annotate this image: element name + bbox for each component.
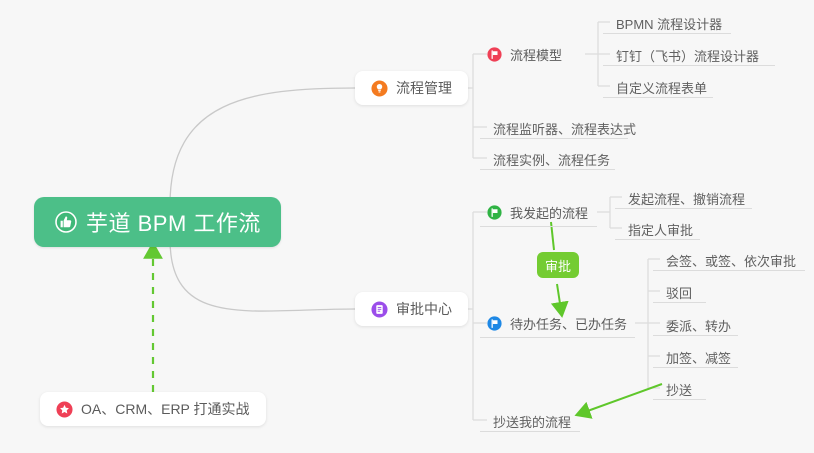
underline (480, 431, 580, 432)
node-label: 待办任务、已办任务 (510, 314, 627, 333)
node-dingtalk-feishu-designer[interactable]: 钉钉（飞书）流程设计器 (610, 40, 767, 68)
root-node-label: 芋道 BPM 工作流 (86, 206, 261, 238)
arrow-cc-to-ccme (582, 384, 662, 413)
note-node-oa-crm-erp[interactable]: OA、CRM、ERP 打通实战 (40, 392, 266, 426)
node-delegate-transfer[interactable]: 委派、转办 (660, 310, 739, 338)
thumbs-up-icon (54, 210, 78, 234)
clipboard-icon (371, 301, 388, 318)
underline (480, 337, 635, 338)
root-node[interactable]: 芋道 BPM 工作流 (34, 197, 281, 247)
underline (603, 33, 731, 34)
branch-node-label: 审批中心 (396, 299, 452, 319)
link-todo-trunk (635, 259, 660, 388)
link-root-to-approval-center (170, 239, 355, 311)
node-countersign[interactable]: 会签、或签、依次审批 (660, 245, 804, 273)
lightbulb-pin-icon (371, 80, 388, 97)
underline (653, 270, 805, 271)
node-reject[interactable]: 驳回 (660, 277, 700, 305)
node-start-cancel-process[interactable]: 发起流程、撤销流程 (622, 183, 753, 211)
underline (653, 367, 738, 368)
underline (603, 97, 713, 98)
node-designated-approval[interactable]: 指定人审批 (622, 214, 701, 242)
link-pm-trunk (460, 54, 487, 158)
underline (480, 138, 628, 139)
underline (653, 335, 738, 336)
flag-icon (487, 205, 502, 220)
node-custom-process-form[interactable]: 自定义流程表单 (610, 72, 715, 100)
underline (603, 65, 775, 66)
flag-icon (487, 316, 502, 331)
branch-node-process-management[interactable]: 流程管理 (355, 71, 468, 105)
underline (615, 239, 700, 240)
node-cc[interactable]: 抄送 (660, 374, 700, 402)
annotation-approval-tag[interactable]: 审批 (537, 252, 579, 278)
underline (653, 399, 706, 400)
node-process-model[interactable]: 流程模型 (487, 40, 562, 68)
node-instance-task[interactable]: 流程实例、流程任务 (487, 144, 618, 172)
node-bpmn-designer[interactable]: BPMN 流程设计器 (610, 8, 730, 36)
mindmap-canvas: 芋道 BPM 工作流 流程管理 流程模型 BPMN 流程设计器 钉 (0, 0, 814, 453)
link-root-to-process-management (170, 88, 355, 205)
underline (653, 302, 706, 303)
node-label: 流程模型 (510, 45, 562, 64)
node-todo-done-tasks[interactable]: 待办任务、已办任务 (487, 309, 627, 337)
link-initiated-trunk (597, 197, 622, 228)
annotation-label: 审批 (545, 256, 571, 275)
node-cc-to-me[interactable]: 抄送我的流程 (487, 406, 579, 434)
node-add-remove-sign[interactable]: 加签、减签 (660, 342, 739, 370)
underline (480, 226, 597, 227)
underline (615, 208, 752, 209)
branch-node-label: 流程管理 (396, 78, 452, 98)
flag-icon (487, 47, 502, 62)
arrow-tag-to-todo (557, 284, 561, 310)
underline (480, 169, 615, 170)
node-listener-expression[interactable]: 流程监听器、流程表达式 (487, 113, 644, 141)
note-node-label: OA、CRM、ERP 打通实战 (81, 399, 250, 419)
node-label: 我发起的流程 (510, 203, 588, 222)
branch-node-approval-center[interactable]: 审批中心 (355, 292, 468, 326)
node-my-initiated[interactable]: 我发起的流程 (487, 198, 588, 226)
link-model-trunk (585, 22, 610, 86)
star-icon (56, 401, 73, 418)
